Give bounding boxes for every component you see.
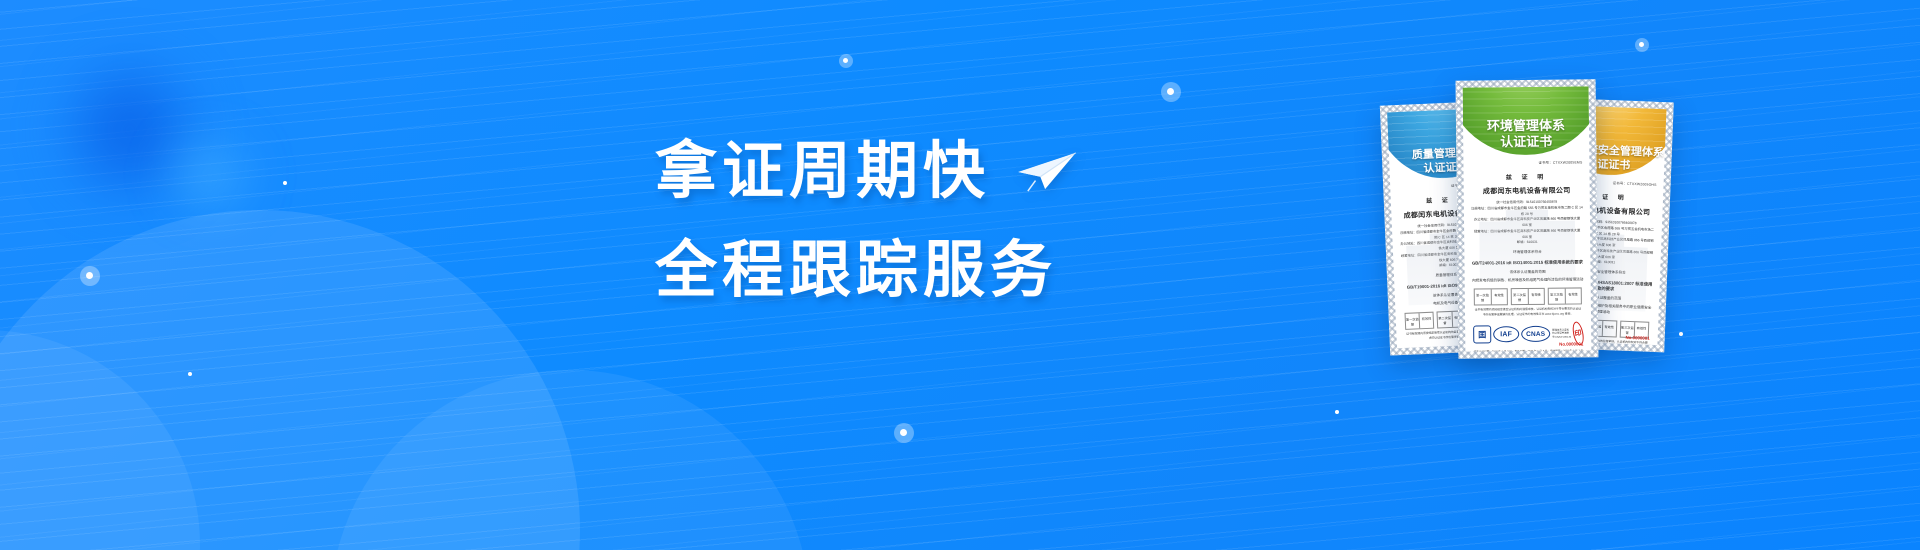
credit-code-label: 统一社会信用代码： bbox=[1417, 223, 1447, 228]
cnas-logo-icon: CNAS bbox=[1521, 326, 1550, 342]
headline-line-1: 拿证周期快 bbox=[655, 138, 990, 203]
iaf-label: IAF bbox=[1493, 326, 1519, 342]
addr2-label: 办公地址： bbox=[1474, 218, 1491, 222]
headline-line-2: 全程跟踪服务 bbox=[655, 237, 1078, 302]
review-cell: 第二次监督 bbox=[1438, 312, 1453, 328]
cnas-label: CNAS bbox=[1521, 326, 1550, 342]
light-blue-glow-blob bbox=[140, 110, 280, 240]
certificate-footnote: 证书有效期内须按规定接受认证机构的监督审核，认证机构有权对不符合要求的认证证书作… bbox=[1474, 307, 1582, 317]
review-cell: 第二次监督 bbox=[1512, 289, 1529, 304]
decorative-circle-right bbox=[330, 370, 810, 550]
decorative-circle-large bbox=[0, 210, 580, 550]
certificate-review-table: 第一次监督 有效性 第二次监督 有效性 第三次监督 有效性 bbox=[1474, 288, 1582, 306]
certificate-title-environment: 环境管理体系 认证证书 bbox=[1463, 119, 1589, 152]
table-row: 第三次监督 有效性 bbox=[1548, 288, 1582, 305]
addr1-label: 注册地址： bbox=[1471, 206, 1488, 210]
credit-code-value: 91510100766400878 bbox=[1526, 200, 1557, 204]
sparkle-dot bbox=[1335, 410, 1339, 414]
certificate-serial: No.0000001 bbox=[1625, 335, 1649, 341]
sparkle-dot bbox=[843, 58, 848, 63]
cn-accreditation-icon: 囯 bbox=[1473, 326, 1491, 344]
dark-blue-glow-blob bbox=[40, 35, 220, 225]
review-cell: 有效性 bbox=[1491, 289, 1507, 304]
cert-no-label: 证书号： bbox=[1538, 161, 1552, 165]
sparkle-dot bbox=[86, 272, 93, 279]
review-cell: 有效性 bbox=[1602, 321, 1616, 336]
review-cell: 有效性 bbox=[1565, 289, 1581, 304]
certificate-environment[interactable]: 环境管理体系 认证证书 证书号：CTXXW2005EMS 兹 证 明 成都闰东电… bbox=[1456, 79, 1599, 358]
review-cell: 第三次监督 bbox=[1549, 289, 1566, 304]
review-cell: 有效性 bbox=[1420, 313, 1434, 329]
iaf-logo-icon: IAF bbox=[1493, 326, 1519, 342]
headline-row-one: 拿证周期快 bbox=[655, 138, 1078, 203]
certificate-company: 成都闰东电机设备有限公司 bbox=[1471, 185, 1583, 196]
review-cell: 第一次监督 bbox=[1406, 313, 1421, 329]
table-row: 第二次监督 有效性 bbox=[1511, 288, 1545, 305]
sparkle-dot bbox=[1167, 88, 1174, 95]
cnas-registration-note: 管理体系认证机构认可证书注册号 CNAS C001-M bbox=[1552, 328, 1571, 339]
table-row: 第一次监督 有效性 bbox=[1405, 312, 1435, 330]
credit-code-value: 91510100766400878 bbox=[1605, 220, 1636, 225]
headline-block: 拿证周期快 全程跟踪服务 bbox=[655, 138, 1078, 302]
sparkle-dot bbox=[1639, 42, 1644, 47]
certificate-number-environment: 证书号：CTXXW2005EMS bbox=[1470, 159, 1582, 165]
sparkle-dot bbox=[188, 372, 192, 376]
sparkle-dot bbox=[900, 429, 907, 436]
cert-no-value: CTXXW2005EMS bbox=[1553, 160, 1583, 164]
table-row: 第一次监督 有效性 bbox=[1474, 288, 1508, 305]
review-cell: 第一次监督 bbox=[1475, 290, 1492, 305]
credit-code-label: 统一社会信用代码： bbox=[1496, 200, 1526, 204]
certificate-heading: 兹 证 明 bbox=[1471, 171, 1583, 181]
review-cell: 有效性 bbox=[1528, 289, 1544, 304]
paper-plane-icon bbox=[1016, 149, 1078, 193]
sparkle-dot bbox=[283, 181, 287, 185]
certificate-ribbon-environment: 环境管理体系 认证证书 bbox=[1463, 86, 1590, 155]
cert-no-label: 证书号： bbox=[1613, 181, 1628, 186]
cert-no-value: CTXXW2005OHS bbox=[1627, 182, 1657, 187]
addr1-label: 注册地址： bbox=[1400, 230, 1417, 235]
cert-title-line-1: 环境管理体系 bbox=[1463, 119, 1589, 136]
certificate-inner-environment: 环境管理体系 认证证书 证书号：CTXXW2005EMS 兹 证 明 成都闰东电… bbox=[1463, 86, 1592, 351]
certificate-serial: No.0000001 bbox=[1559, 341, 1583, 346]
cert-title-line-2: 认证证书 bbox=[1463, 134, 1589, 151]
hero-banner: 拿证周期快 全程跟踪服务 质量管理体系 认证证书 bbox=[0, 0, 1920, 550]
decorative-circle-small-left bbox=[0, 330, 200, 550]
certificate-group: 质量管理体系 认证证书 证书号：CTXXW2005QMS 兹 证 明 成都闰东电… bbox=[1385, 80, 1885, 380]
certificate-body-environment: 证书号：CTXXW2005EMS 兹 证 明 成都闰东电机设备有限公司 统一社会… bbox=[1463, 154, 1591, 316]
